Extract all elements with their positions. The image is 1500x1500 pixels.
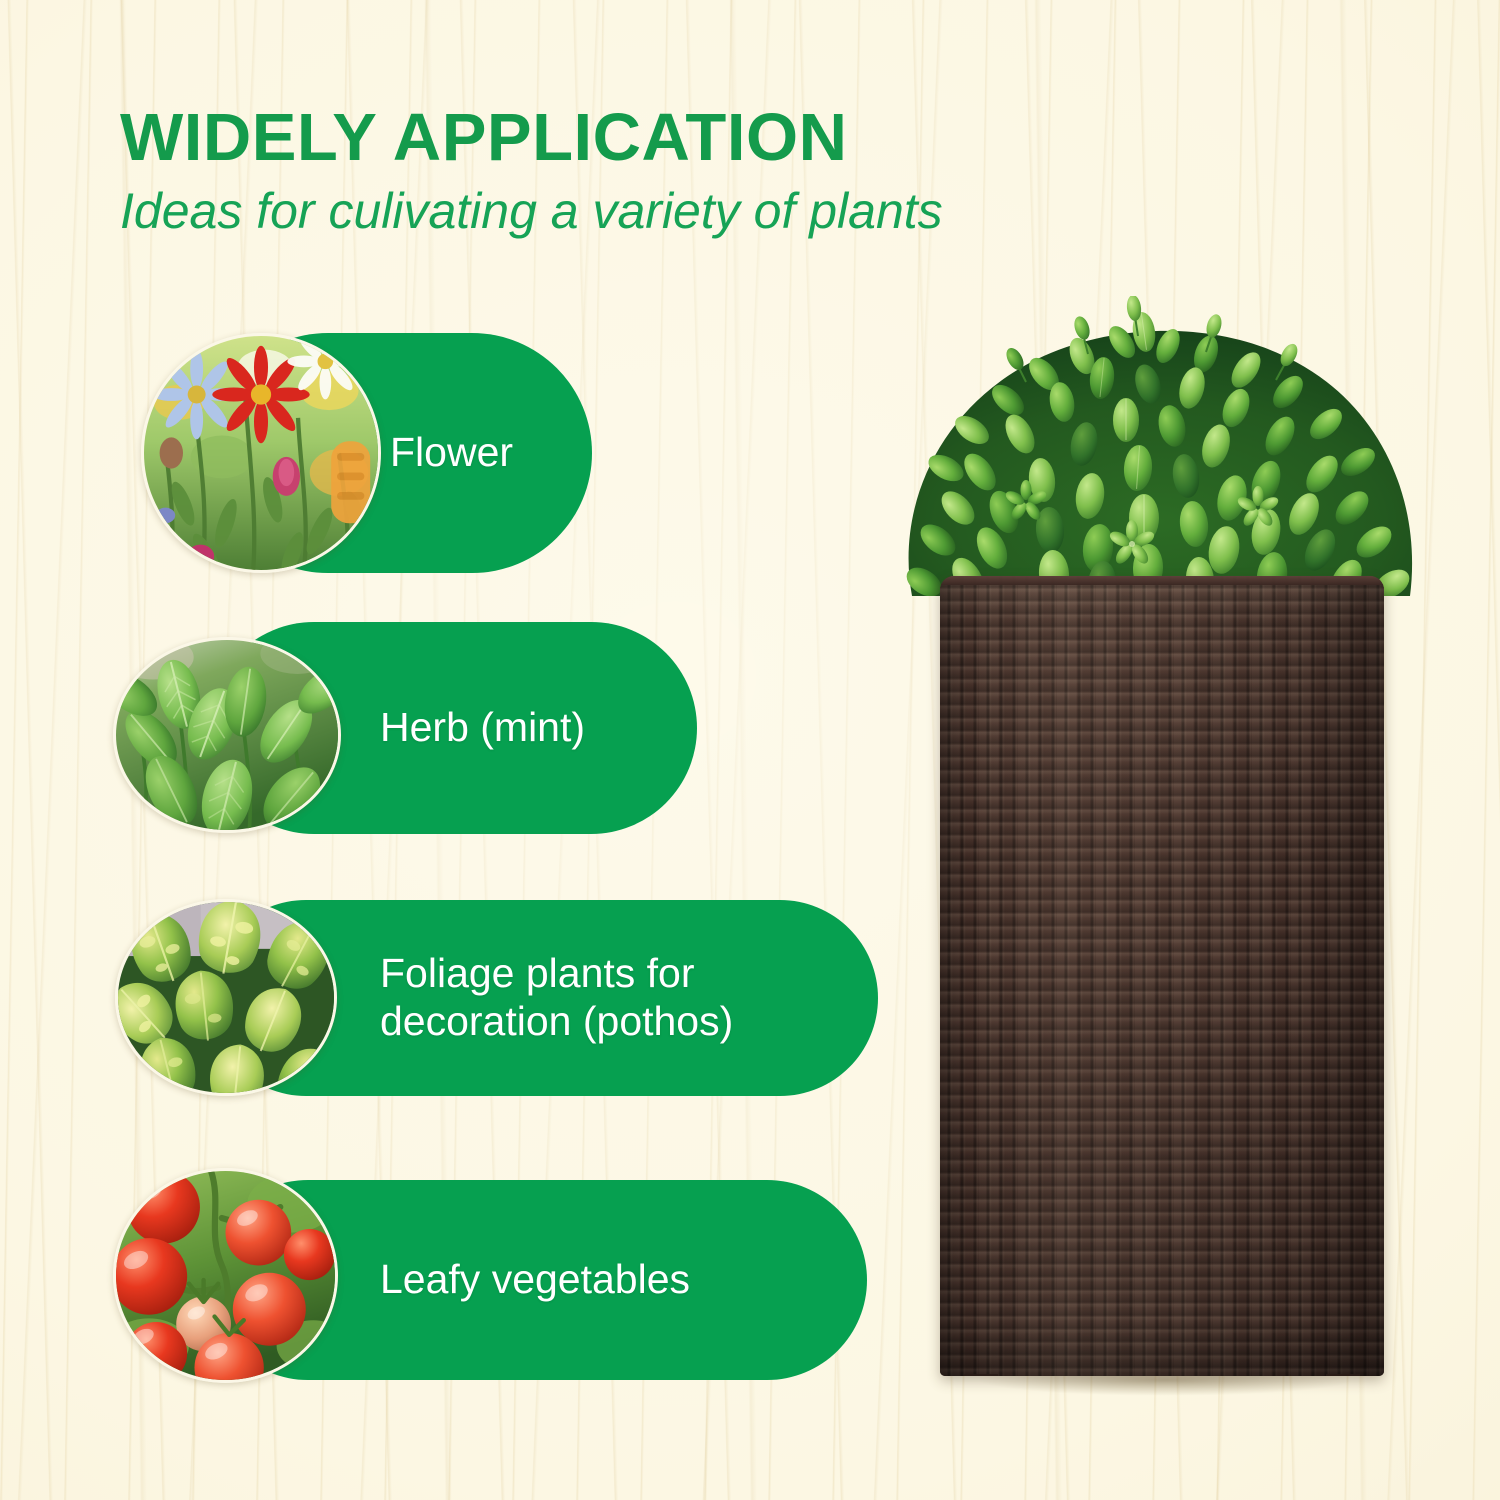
planter-top-rim <box>940 576 1384 585</box>
boxwood-shrub-graphic <box>876 296 1438 596</box>
planter-foot-left <box>964 1374 998 1376</box>
flower-thumbnail-icon <box>141 333 381 573</box>
feature-label: Flower <box>390 429 513 477</box>
planter-foot-right <box>1326 1374 1360 1376</box>
mint-thumbnail-icon <box>113 637 341 833</box>
feature-label: Herb (mint) <box>380 704 585 752</box>
planter-shading <box>940 576 1384 1376</box>
page-title: WIDELY APPLICATION <box>120 104 1400 171</box>
feature-label: Foliage plants for decoration (pothos) <box>380 950 733 1046</box>
feature-label: Leafy vegetables <box>380 1256 690 1304</box>
rattan-planter-body <box>940 576 1384 1376</box>
header-block: WIDELY APPLICATION Ideas for culivating … <box>120 104 1400 238</box>
pothos-thumbnail-icon <box>115 899 337 1096</box>
infographic-canvas: WIDELY APPLICATION Ideas for culivating … <box>0 0 1500 1500</box>
tomatoes-thumbnail-icon <box>113 1168 338 1383</box>
page-subtitle: Ideas for culivating a variety of plants <box>120 185 1400 238</box>
